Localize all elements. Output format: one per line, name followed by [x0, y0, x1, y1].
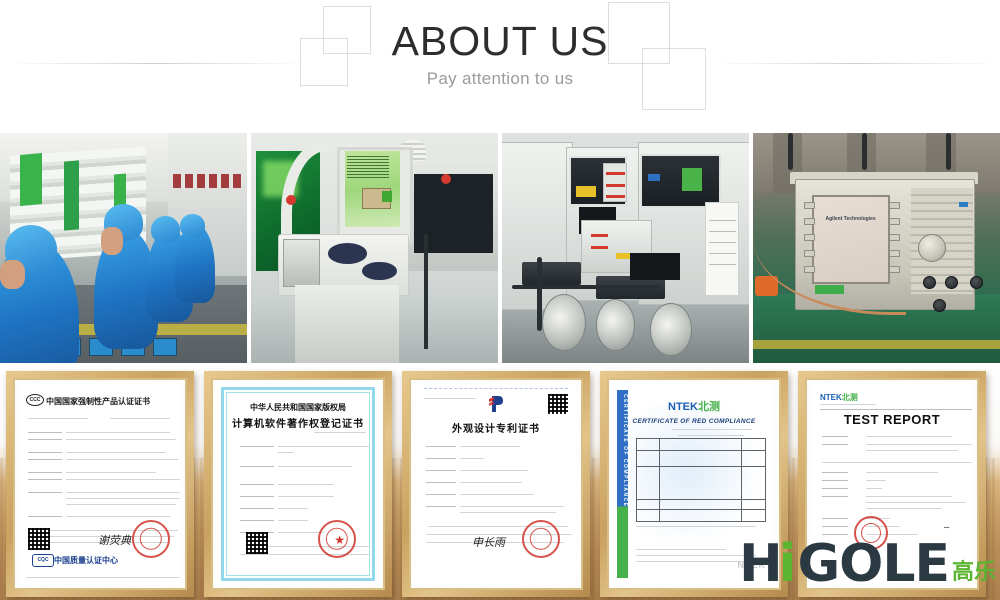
document-line-2 [709, 231, 736, 232]
field-line-1 [426, 446, 456, 447]
field-line-1 [28, 418, 88, 419]
support-pole [424, 234, 428, 349]
field-line-19 [28, 516, 62, 517]
softkey-right-2 [889, 218, 900, 225]
issuer-line-3 [636, 561, 748, 562]
qr-code [28, 528, 50, 550]
signature: ∽ [943, 523, 950, 532]
issuer-line-2 [636, 555, 756, 556]
head-yellow-label [616, 253, 631, 260]
field-value-6b [866, 502, 966, 503]
official-seal [132, 520, 170, 558]
certificate-gallery: CCC 中国国家强制性产品认证证书 [0, 363, 1000, 600]
footnote-line [636, 526, 756, 527]
rf-connector-4 [933, 299, 946, 312]
document-line-5 [709, 264, 736, 265]
blue-sticker [648, 174, 660, 181]
field-value-2b [866, 450, 958, 451]
rotary-knob [918, 234, 946, 262]
field-line-7 [28, 452, 62, 453]
warning-label-2 [606, 184, 626, 187]
cqc-logo-icon: CQC [32, 554, 54, 567]
seal-star-icon: ★ [334, 533, 345, 547]
field-label-6 [822, 496, 848, 497]
blue-function-key [959, 202, 968, 207]
field-line-18 [66, 504, 176, 505]
softkey-right-1 [889, 202, 900, 209]
certificate-title: TEST REPORT [812, 412, 972, 427]
field-value-6c [866, 508, 942, 509]
clipboard-document [705, 202, 739, 296]
photo-aoi-machine[interactable] [251, 133, 498, 363]
field-label-4 [822, 480, 848, 481]
machine-oval-2 [362, 262, 397, 280]
softkey-left-2 [804, 218, 815, 225]
field-line-16 [66, 492, 180, 493]
field-value-7 [278, 532, 324, 533]
document-line-1 [709, 220, 736, 221]
table-row-divider-3 [637, 499, 765, 500]
report-no-line [820, 404, 876, 405]
field-value-6 [460, 506, 564, 507]
field-value-3 [460, 470, 528, 471]
component-reel-1 [542, 294, 586, 351]
table-row-divider-4 [637, 509, 765, 510]
field-line-1 [240, 446, 274, 447]
field-value-6 [866, 496, 952, 497]
page-title: ABOUT US [0, 0, 1000, 63]
cert-number-line [314, 432, 366, 433]
certificate-title: 计算机软件著作权登记证书 [218, 415, 378, 430]
about-us-page: ABOUT US Pay attention to us [0, 0, 1000, 600]
page-header: ABOUT US Pay attention to us [0, 0, 1000, 125]
page-subtitle: Pay attention to us [0, 63, 1000, 89]
frame-mat: 外观设计专利证书 申长雨 [409, 378, 583, 590]
table-row-divider-2 [637, 466, 765, 467]
hanging-cable-2 [862, 133, 867, 170]
head-warning-2 [591, 246, 608, 249]
field-value-4 [278, 496, 334, 497]
frame-rail [512, 285, 660, 289]
signature: 申长雨 [472, 534, 505, 550]
warning-label-3 [606, 195, 626, 198]
softkey-left-1 [804, 202, 815, 209]
field-line-9 [28, 459, 62, 460]
green-panel-1 [20, 153, 42, 206]
certificate-ccc[interactable]: CCC 中国国家强制性产品认证证书 [6, 371, 194, 597]
field-value-2 [278, 466, 352, 467]
field-line-3 [426, 470, 456, 471]
field-value-1b [278, 452, 294, 453]
field-line-12 [66, 472, 156, 473]
warning-label-1 [606, 172, 626, 175]
certificate-title: 外观设计专利证书 [416, 420, 576, 435]
document-line-3 [709, 242, 736, 243]
field-value-2a [866, 444, 972, 445]
standards-table [636, 438, 766, 522]
worker-4 [175, 225, 215, 303]
field-line-5 [240, 508, 274, 509]
certificate-sheet: CCC 中国国家强制性产品认证证书 [20, 384, 180, 584]
wall-shutter [173, 174, 242, 188]
field-line-2 [426, 458, 456, 459]
field-line-4 [240, 496, 274, 497]
machine-oval-1 [328, 243, 368, 264]
field-value-5 [460, 494, 534, 495]
hanging-cable-3 [946, 133, 951, 170]
field-line-6 [66, 439, 176, 440]
field-value-4 [460, 482, 522, 483]
frame-mat: 中华人民共和国国家版权局 计算机软件著作权登记证书 [211, 378, 385, 590]
field-value-2 [460, 458, 484, 459]
bench-edge-strip [753, 340, 1000, 349]
certificate-sheet: 外观设计专利证书 申长雨 [416, 384, 576, 584]
field-value-1 [866, 436, 952, 437]
green-panel-2 [64, 160, 79, 230]
field-line-10 [66, 459, 178, 460]
logo-chinese-name: 高乐 [952, 562, 996, 590]
footer-line [26, 577, 180, 578]
field-line-13 [28, 479, 62, 480]
cnipa-logo-icon [486, 394, 506, 414]
document-line-4 [709, 253, 736, 254]
field-line-3 [28, 432, 62, 433]
logo-letter-h: H [739, 538, 781, 590]
qr-code [246, 532, 268, 554]
field-value-5 [278, 508, 308, 509]
screen-text-lines [347, 156, 389, 179]
certificate-software-copyright[interactable]: 中华人民共和国国家版权局 计算机软件著作权登记证书 [204, 371, 392, 597]
field-value-6 [278, 520, 308, 521]
component-tray-4 [153, 338, 177, 356]
signature: 谢荧典 [98, 532, 131, 548]
certificate-sheet: 中华人民共和国国家版权局 计算机软件著作权登记证书 [218, 384, 378, 584]
patent-number-line [424, 398, 476, 399]
machine-lower-body [295, 285, 399, 363]
header-text-block: ABOUT US Pay attention to us [0, 0, 1000, 89]
field-line-6 [426, 506, 456, 507]
photo-pick-and-place[interactable] [502, 133, 749, 363]
field-label-5 [822, 488, 848, 489]
field-line-2 [240, 466, 274, 467]
ntek-brand-cn: 北测 [698, 400, 720, 413]
field-label-7 [822, 518, 848, 519]
certificate-title: CERTIFICATE OF RED COMPLIANCE [614, 418, 774, 425]
header-rule [820, 409, 972, 410]
field-value-1 [278, 446, 370, 447]
feeder-bank-1 [522, 262, 581, 285]
field-value-3 [866, 472, 938, 473]
ntek-brand-en: NTEK [668, 401, 698, 413]
field-line-11 [28, 472, 62, 473]
yellow-caution-label [576, 186, 596, 198]
rf-connector-2 [945, 276, 958, 289]
field-line-4 [426, 482, 456, 483]
photo-assembly-line[interactable] [0, 133, 247, 363]
component-reel-2 [596, 299, 635, 352]
ccc-mark-icon: CCC [26, 394, 44, 406]
field-line-6 [240, 520, 274, 521]
cable-conduit [537, 257, 542, 331]
field-line-4 [66, 432, 170, 433]
qr-code [548, 394, 568, 414]
certificate-design-patent[interactable]: 外观设计专利证书 申长雨 [402, 371, 590, 597]
field-line-2 [110, 418, 170, 419]
worker-face-1 [0, 260, 25, 290]
body-line-2 [240, 554, 370, 555]
factory-photo-gallery: Agilent Technologies [0, 133, 1000, 363]
worker-cap-3 [151, 216, 181, 244]
field-label-1 [822, 436, 848, 437]
field-line-8 [66, 452, 166, 453]
head-warning-1 [591, 234, 608, 237]
issuing-authority: 中华人民共和国国家版权局 [218, 402, 378, 413]
body-note [822, 462, 972, 463]
certificate-title: 中国国家强制性产品认证证书 [46, 396, 150, 407]
rf-connector-1 [923, 276, 936, 289]
field-value-5 [866, 488, 882, 489]
logo-letter-i: i [779, 538, 797, 590]
official-seal [522, 520, 560, 558]
logo-word-gole: GOLE [797, 538, 949, 590]
worker-cap-4 [180, 214, 205, 237]
field-line-3 [240, 484, 274, 485]
field-line-14 [66, 479, 180, 480]
hanging-cable-1 [788, 133, 793, 170]
rf-connector-3 [970, 276, 983, 289]
frame-mat: CCC 中国国家强制性产品认证证书 [13, 378, 187, 590]
photo-agilent-equipment[interactable]: Agilent Technologies [753, 133, 1000, 363]
field-line-20 [66, 516, 170, 517]
emergency-stop-button [286, 195, 296, 205]
field-label-2 [822, 444, 848, 445]
control-pc [283, 239, 320, 287]
sidebar-label: CERTIFICATE OF COMPLIANCE [617, 394, 628, 534]
field-value-3 [278, 484, 334, 485]
table-row-divider-1 [637, 450, 765, 451]
field-label-8 [822, 526, 848, 527]
issuer-line-1 [636, 549, 726, 550]
reference-line [678, 435, 744, 436]
field-value-1 [460, 446, 520, 447]
pcb-magazine [630, 253, 679, 281]
worker-face-2 [101, 227, 123, 255]
higole-brand-logo: H i GOLE 高乐 [739, 538, 996, 590]
field-value-4 [866, 480, 886, 481]
field-line-15 [28, 492, 62, 493]
directive-line [672, 429, 752, 430]
field-line-5 [426, 494, 456, 495]
green-sticker [682, 168, 702, 191]
field-line-5 [28, 439, 62, 440]
screen-green-indicator [382, 191, 392, 203]
field-line-17 [66, 498, 180, 499]
field-label-3 [822, 472, 848, 473]
component-reel-3 [650, 303, 692, 356]
issuer-name: 中国质量认证中心 [54, 555, 118, 566]
field-value-6b [460, 512, 556, 513]
ntek-brand-logo: NTEK北测 [614, 398, 774, 414]
